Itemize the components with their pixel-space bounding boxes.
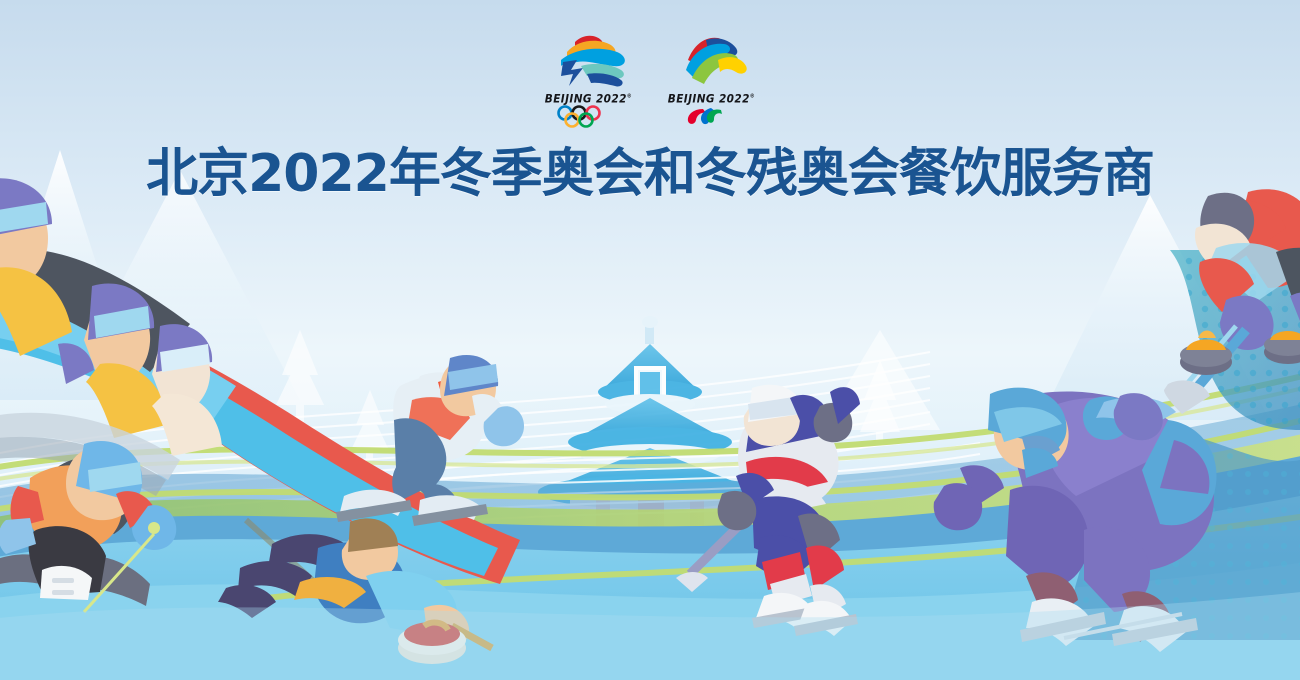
- winter-dream-emblem-icon: [543, 30, 635, 92]
- page-title: 北京2022年冬季奥会和冬残奥会餐饮服务商: [0, 144, 1300, 204]
- beijing-2022-paralympic-logo: BEIJING 2022®: [659, 30, 764, 138]
- beijing-2022-olympic-logo: BEIJING 2022®: [536, 30, 641, 138]
- olympics-banner: BEIJING 2022® BE: [0, 0, 1300, 680]
- logo-row: BEIJING 2022® BE: [0, 30, 1300, 138]
- agitos-icon: [677, 105, 747, 129]
- flying-high-emblem-icon: [666, 30, 758, 92]
- paralympic-wordmark: BEIJING 2022®: [668, 92, 755, 105]
- olympic-rings-icon: [554, 105, 624, 129]
- olympic-wordmark: BEIJING 2022®: [545, 92, 632, 105]
